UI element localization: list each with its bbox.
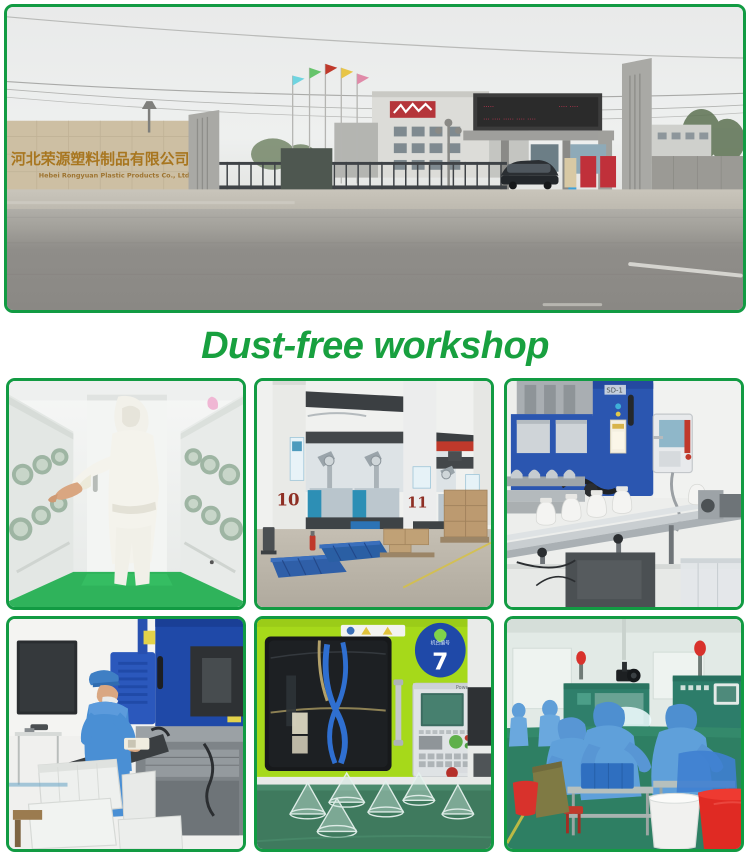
fire-extinguisher [310, 535, 316, 551]
door-handle [395, 681, 401, 743]
company-sign-chinese: 河北荣源塑料制品有限公司 [11, 150, 189, 168]
operator-illustration [9, 619, 243, 849]
red-bucket-small [513, 781, 538, 816]
injection-molding-hall-photo: 10 11 [254, 378, 494, 610]
blow-molding-illustration: SD-1 [507, 381, 741, 607]
blue-crate [581, 763, 634, 788]
column-number-11: 11 [407, 495, 427, 512]
svg-text:·····: ····· [483, 103, 494, 111]
air-shower-illustration [9, 381, 243, 607]
red-banner [580, 156, 596, 187]
banner-illustration: ····· ···· ···· ··· ···· ····· ···· ···· [7, 7, 743, 310]
machine-handle [157, 656, 163, 689]
green-injection-machine-photo: 机台编号 7 Powerjet [254, 616, 494, 852]
svg-text:SD-1: SD-1 [606, 387, 622, 395]
blow-molding-machine-photo: SD-1 [504, 378, 744, 610]
held-part [124, 738, 149, 750]
operator-at-machine-photo [6, 616, 246, 852]
svg-text:···· ····: ···· ···· [559, 103, 579, 111]
blue-bag [677, 751, 737, 793]
air-shower-room-photo [6, 378, 246, 610]
molding-hall-illustration: 10 11 [257, 381, 491, 607]
machine-number-badge: 机台编号 7 [415, 623, 466, 678]
company-sign-english: Hebei Rongyuan Plastic Products Co., Ltd [39, 172, 190, 180]
machine-number: 7 [432, 648, 448, 676]
column-number-10: 10 [277, 490, 300, 510]
assembly-illustration [507, 619, 741, 849]
machine-handle [628, 395, 634, 426]
dust-free-workshop-page: ····· ···· ···· ··· ···· ····· ···· ···· [0, 0, 750, 854]
assembly-inspection-area-photo [504, 616, 744, 852]
page-title: Dust-free workshop [0, 320, 750, 372]
green-machine-illustration: 机台编号 7 Powerjet [257, 619, 491, 849]
factory-gate-exterior-photo: ····· ···· ···· ··· ···· ····· ···· ···· [4, 4, 746, 313]
svg-text:机台编号: 机台编号 [431, 639, 451, 646]
red-banner [600, 156, 616, 187]
svg-text:··· ···· ····· ···· ····: ··· ···· ····· ···· ···· [483, 116, 536, 124]
